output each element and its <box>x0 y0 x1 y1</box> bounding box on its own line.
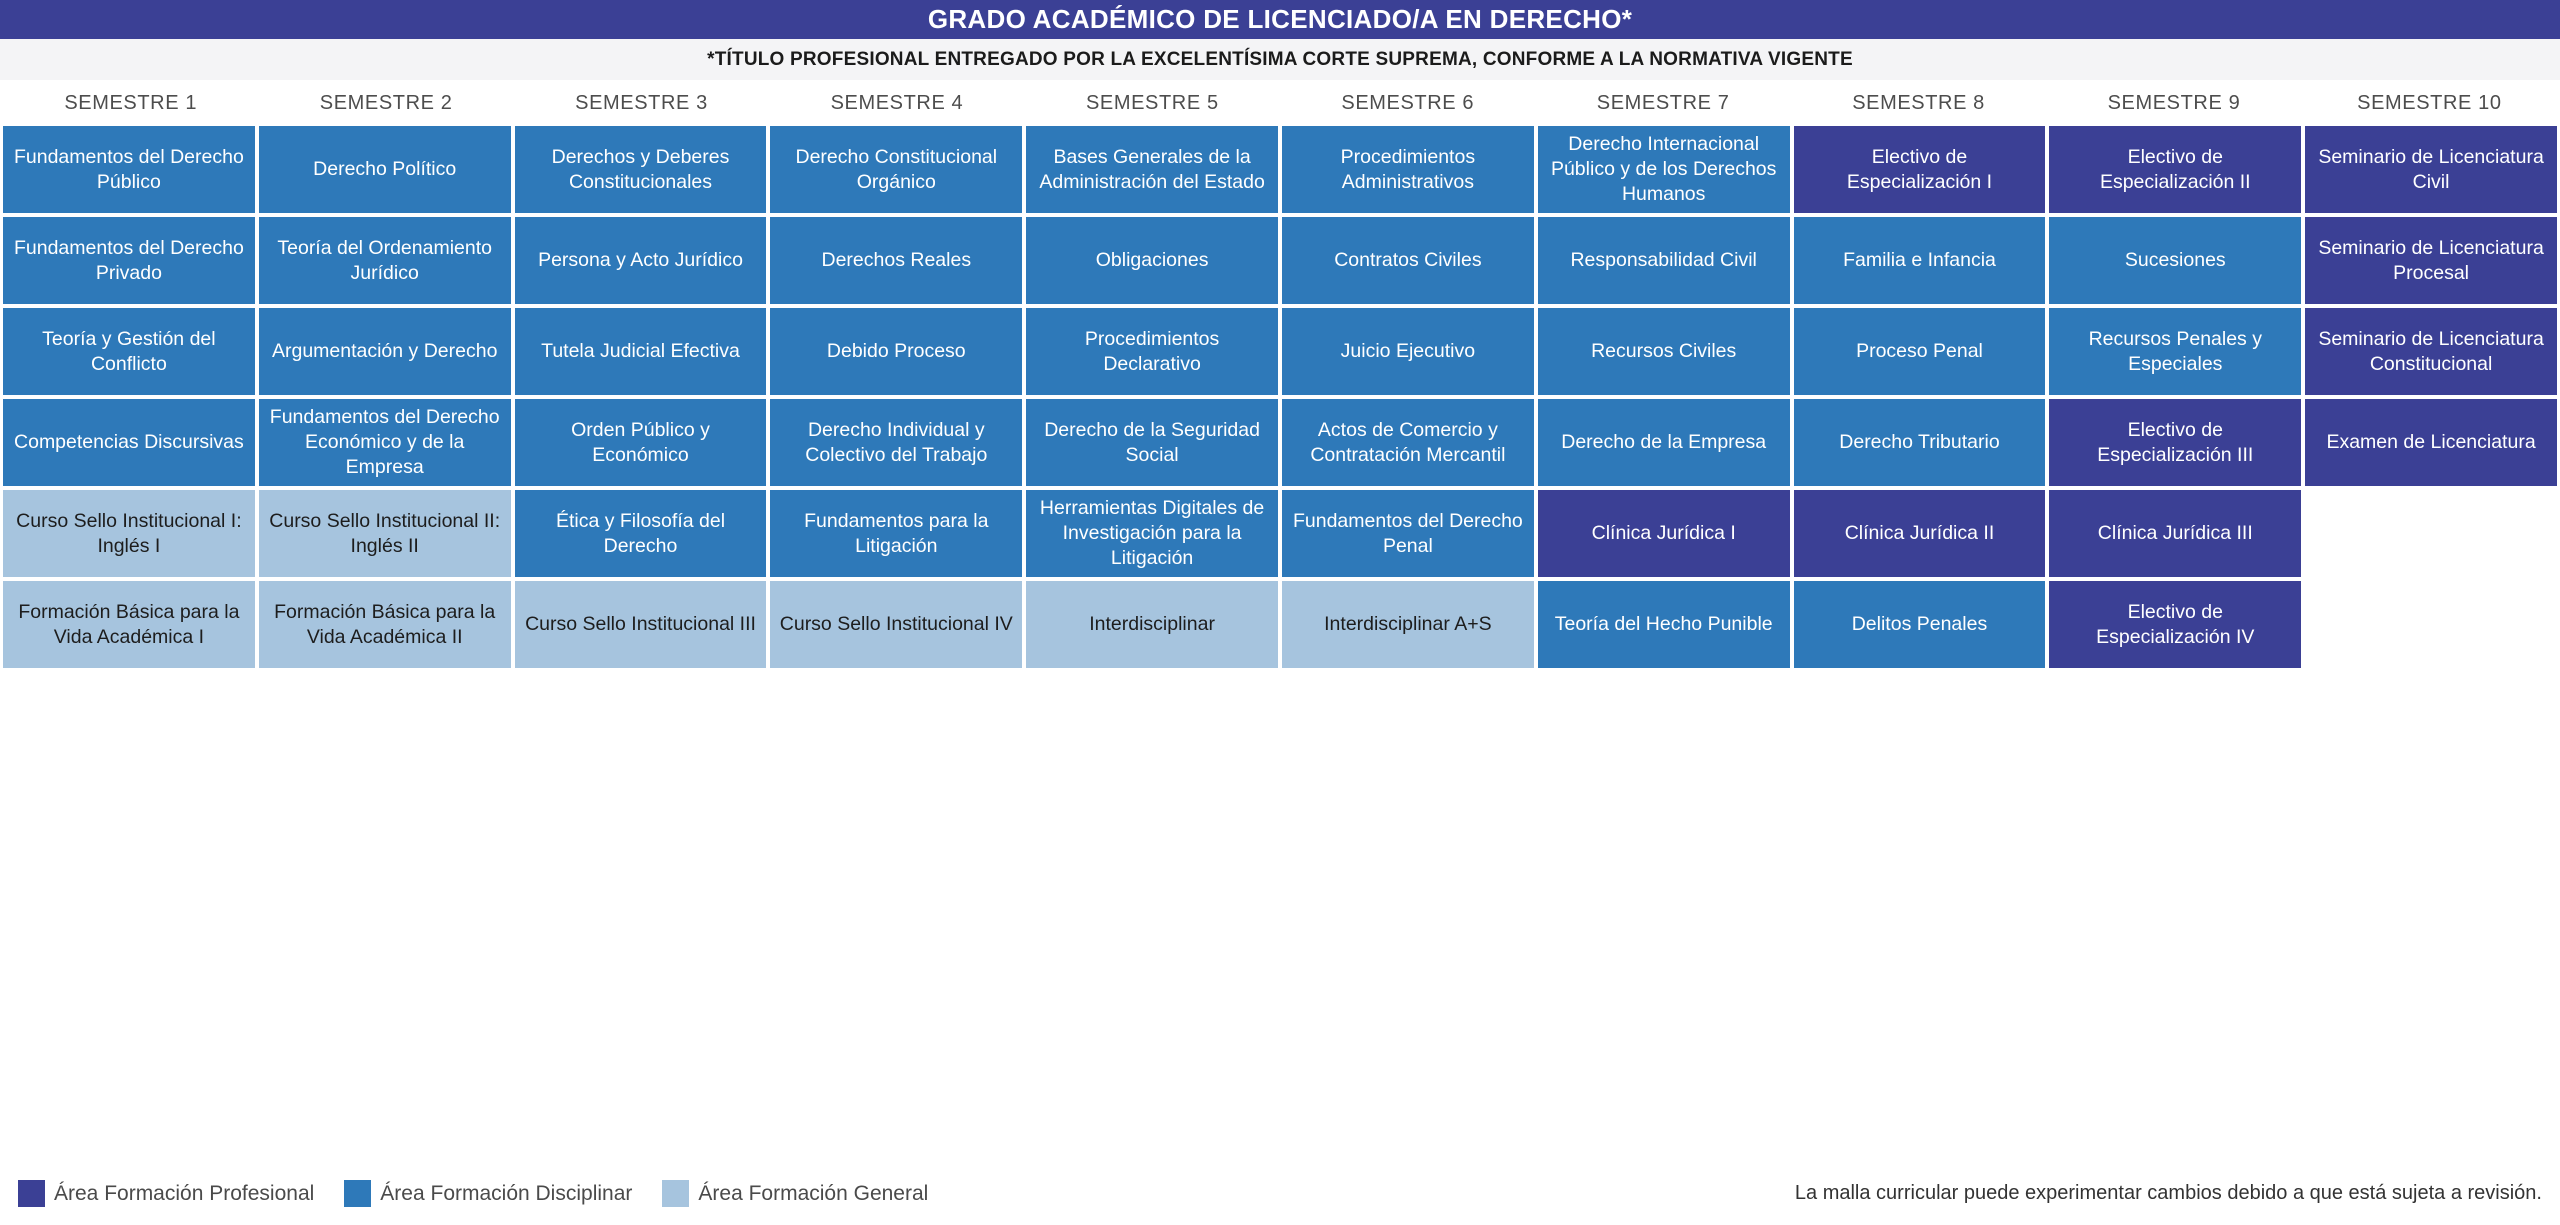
course-cell[interactable]: Derecho Individual y Colectivo del Traba… <box>770 399 1022 486</box>
semester-column-6: Procedimientos AdministrativosContratos … <box>1282 126 1534 668</box>
disclaimer-text: La malla curricular puede experimentar c… <box>1795 1182 2542 1205</box>
course-cell[interactable]: Derecho Político <box>259 126 511 213</box>
course-cell[interactable]: Orden Público y Económico <box>515 399 767 486</box>
course-cell[interactable]: Curso Sello Institucional III <box>515 581 767 668</box>
subtitle-bar: *TÍTULO PROFESIONAL ENTREGADO POR LA EXC… <box>0 39 2560 81</box>
course-cell[interactable]: Sucesiones <box>2049 217 2301 304</box>
page-title: GRADO ACADÉMICO DE LICENCIADO/A EN DEREC… <box>928 4 1632 35</box>
semester-header-8: SEMESTRE 8 <box>1791 92 2046 115</box>
course-cell[interactable]: Derechos y Deberes Constitucionales <box>515 126 767 213</box>
legend-label: Área Formación Profesional <box>54 1182 314 1206</box>
course-cell[interactable]: Electivo de Especialización II <box>2049 126 2301 213</box>
semester-header-9: SEMESTRE 9 <box>2046 92 2301 115</box>
course-cell-empty <box>2305 490 2557 577</box>
course-cell[interactable]: Electivo de Especialización III <box>2049 399 2301 486</box>
semester-column-9: Electivo de Especialización IISucesiones… <box>2049 126 2301 668</box>
course-cell[interactable]: Procedimientos Declarativo <box>1026 308 1278 395</box>
course-cell[interactable]: Interdisciplinar <box>1026 581 1278 668</box>
course-cell-empty <box>2305 581 2557 668</box>
semester-column-10: Seminario de Licenciatura CivilSeminario… <box>2305 126 2557 668</box>
course-cell[interactable]: Fundamentos para la Litigación <box>770 490 1022 577</box>
course-cell[interactable]: Derechos Reales <box>770 217 1022 304</box>
semester-header-7: SEMESTRE 7 <box>1535 92 1790 115</box>
course-cell[interactable]: Responsabilidad Civil <box>1538 217 1790 304</box>
title-bar: GRADO ACADÉMICO DE LICENCIADO/A EN DEREC… <box>0 0 2560 39</box>
legend-item-2: Área Formación Disciplinar <box>344 1180 632 1207</box>
course-cell[interactable]: Seminario de Licenciatura Procesal <box>2305 217 2557 304</box>
legend-label: Área Formación General <box>698 1182 928 1206</box>
legend-item-3: Área Formación General <box>662 1180 928 1207</box>
course-cell[interactable]: Curso Sello Institucional I: Inglés I <box>3 490 255 577</box>
course-cell[interactable]: Recursos Penales y Especiales <box>2049 308 2301 395</box>
course-cell[interactable]: Teoría y Gestión del Conflicto <box>3 308 255 395</box>
course-cell[interactable]: Derecho Constitucional Orgánico <box>770 126 1022 213</box>
legend: Área Formación ProfesionalÁrea Formación… <box>18 1180 928 1207</box>
course-cell[interactable]: Derecho Internacional Público y de los D… <box>1538 126 1790 213</box>
semester-header-5: SEMESTRE 5 <box>1025 92 1280 115</box>
course-cell[interactable]: Actos de Comercio y Contratación Mercant… <box>1282 399 1534 486</box>
course-cell[interactable]: Formación Básica para la Vida Académica … <box>259 581 511 668</box>
semester-header-row: SEMESTRE 1SEMESTRE 2SEMESTRE 3SEMESTRE 4… <box>3 81 2557 126</box>
semester-column-1: Fundamentos del Derecho PúblicoFundament… <box>3 126 255 668</box>
course-cell[interactable]: Recursos Civiles <box>1538 308 1790 395</box>
course-cell[interactable]: Tutela Judicial Efectiva <box>515 308 767 395</box>
course-cell[interactable]: Herramientas Digitales de Investigación … <box>1026 490 1278 577</box>
course-cell[interactable]: Juicio Ejecutivo <box>1282 308 1534 395</box>
semester-column-4: Derecho Constitucional OrgánicoDerechos … <box>770 126 1022 668</box>
course-cell[interactable]: Obligaciones <box>1026 217 1278 304</box>
course-cell[interactable]: Bases Generales de la Administración del… <box>1026 126 1278 213</box>
course-cell[interactable]: Clínica Jurídica III <box>2049 490 2301 577</box>
legend-label: Área Formación Disciplinar <box>380 1182 632 1206</box>
semester-column-5: Bases Generales de la Administración del… <box>1026 126 1278 668</box>
course-cell[interactable]: Derecho de la Seguridad Social <box>1026 399 1278 486</box>
semester-header-6: SEMESTRE 6 <box>1280 92 1535 115</box>
course-cell[interactable]: Ética y Filosofía del Derecho <box>515 490 767 577</box>
semester-column-7: Derecho Internacional Público y de los D… <box>1538 126 1790 668</box>
course-cell[interactable]: Clínica Jurídica I <box>1538 490 1790 577</box>
course-cell[interactable]: Debido Proceso <box>770 308 1022 395</box>
course-cell[interactable]: Examen de Licenciatura <box>2305 399 2557 486</box>
course-cell[interactable]: Teoría del Hecho Punible <box>1538 581 1790 668</box>
course-cell[interactable]: Procedimientos Administrativos <box>1282 126 1534 213</box>
legend-swatch-icon <box>344 1180 371 1207</box>
semester-header-4: SEMESTRE 4 <box>769 92 1024 115</box>
course-cell[interactable]: Interdisciplinar A+S <box>1282 581 1534 668</box>
course-cell[interactable]: Formación Básica para la Vida Académica … <box>3 581 255 668</box>
semester-header-2: SEMESTRE 2 <box>258 92 513 115</box>
course-cell[interactable]: Clínica Jurídica II <box>1794 490 2046 577</box>
course-cell[interactable]: Competencias Discursivas <box>3 399 255 486</box>
semester-column-8: Electivo de Especialización IFamilia e I… <box>1794 126 2046 668</box>
course-cell[interactable]: Persona y Acto Jurídico <box>515 217 767 304</box>
legend-swatch-icon <box>662 1180 689 1207</box>
course-cell[interactable]: Delitos Penales <box>1794 581 2046 668</box>
course-cell[interactable]: Curso Sello Institucional II: Inglés II <box>259 490 511 577</box>
semester-header-10: SEMESTRE 10 <box>2302 92 2557 115</box>
course-cell[interactable]: Proceso Penal <box>1794 308 2046 395</box>
legend-swatch-icon <box>18 1180 45 1207</box>
footer: Área Formación ProfesionalÁrea Formación… <box>0 1162 2560 1225</box>
legend-item-1: Área Formación Profesional <box>18 1180 314 1207</box>
semester-header-1: SEMESTRE 1 <box>3 92 258 115</box>
course-cell[interactable]: Teoría del Ordenamiento Jurídico <box>259 217 511 304</box>
course-cell[interactable]: Contratos Civiles <box>1282 217 1534 304</box>
course-cell[interactable]: Fundamentos del Derecho Público <box>3 126 255 213</box>
course-cell[interactable]: Familia e Infancia <box>1794 217 2046 304</box>
course-cell[interactable]: Curso Sello Institucional IV <box>770 581 1022 668</box>
course-cell[interactable]: Fundamentos del Derecho Económico y de l… <box>259 399 511 486</box>
course-cell[interactable]: Fundamentos del Derecho Penal <box>1282 490 1534 577</box>
curriculum-grid: Fundamentos del Derecho PúblicoFundament… <box>3 126 2557 668</box>
course-cell[interactable]: Derecho de la Empresa <box>1538 399 1790 486</box>
course-cell[interactable]: Seminario de Licenciatura Constitucional <box>2305 308 2557 395</box>
semester-column-3: Derechos y Deberes ConstitucionalesPerso… <box>515 126 767 668</box>
course-cell[interactable]: Seminario de Licenciatura Civil <box>2305 126 2557 213</box>
course-cell[interactable]: Derecho Tributario <box>1794 399 2046 486</box>
page-subtitle: *TÍTULO PROFESIONAL ENTREGADO POR LA EXC… <box>707 49 1853 71</box>
course-cell[interactable]: Argumentación y Derecho <box>259 308 511 395</box>
semester-column-2: Derecho PolíticoTeoría del Ordenamiento … <box>259 126 511 668</box>
course-cell[interactable]: Electivo de Especialización IV <box>2049 581 2301 668</box>
semester-header-3: SEMESTRE 3 <box>514 92 769 115</box>
course-cell[interactable]: Electivo de Especialización I <box>1794 126 2046 213</box>
course-cell[interactable]: Fundamentos del Derecho Privado <box>3 217 255 304</box>
